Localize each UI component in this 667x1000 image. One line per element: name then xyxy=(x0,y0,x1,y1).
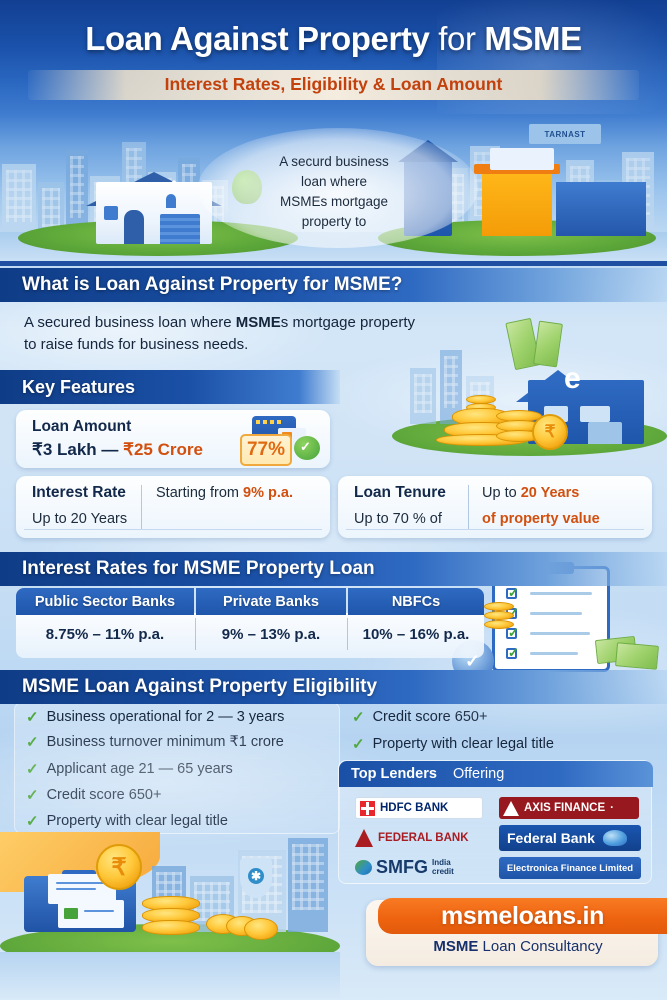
top-lenders-title: Top Lenders Offering xyxy=(351,766,504,782)
smfg-subtext-1: India xyxy=(432,858,454,867)
rates-table: Public Sector Banks Private Banks NBFCs … xyxy=(16,588,484,658)
lender-logo-electronica[interactable]: Electronica Finance Limited xyxy=(499,857,641,879)
smfg-subtext-2: credit xyxy=(432,867,454,876)
header-banner: Loan Against Property for MSME Interest … xyxy=(0,0,667,114)
federal-bank-logo-icon xyxy=(355,829,373,847)
lender-name-axis: AXIS FINANCE xyxy=(524,802,605,814)
federal-swoosh-icon xyxy=(603,830,627,846)
what-is-body-bold: MSME xyxy=(236,314,281,331)
house-garage-icon xyxy=(160,214,200,244)
what-is-body: A secured business loan where MSMEs mort… xyxy=(24,312,494,356)
eligibility-label-1: Business turnover minimum ₹1 crore xyxy=(47,734,284,750)
eligibility-item-1: ✓ Business turnover minimum ₹1 crore xyxy=(26,733,284,751)
loan-amount-value-accent: ₹25 Crore xyxy=(123,440,203,459)
loan-amount-value: ₹3 Lakh — ₹25 Crore xyxy=(32,440,203,460)
section-title-eligibility: MSME Loan Against Property Eligibility xyxy=(22,676,377,698)
page-title-main: Loan Against Property xyxy=(85,20,429,57)
footer-domain: msmeloans.in xyxy=(441,902,604,931)
check-icon: ✓ xyxy=(26,708,39,726)
page-title-for: for xyxy=(438,20,475,57)
lender-logo-axis[interactable]: AXIS FINANCE · xyxy=(499,797,639,819)
rates-col-header-2: NBFCs xyxy=(348,588,484,615)
page-title: Loan Against Property for MSME xyxy=(0,20,667,58)
what-is-body-part1: A secured business loan where xyxy=(24,314,236,331)
rate-badge: 77% xyxy=(240,434,292,466)
section-header-key-features: Key Features xyxy=(0,370,340,404)
billboard-sign: TARNAST xyxy=(529,124,601,144)
check-icon: ✓ xyxy=(26,812,39,830)
eligibility-right-label-1: Property with clear legal title xyxy=(373,736,554,752)
loan-tenure-sublabel: Up to 70 % of xyxy=(354,511,442,527)
footer-tagline: MSME Loan Consultancy xyxy=(378,938,658,955)
card-loan-amount: Loan Amount ₹3 Lakh — ₹25 Crore 77% ✓ xyxy=(16,410,330,468)
section-header-rates: Interest Rates for MSME Property Loan xyxy=(0,552,667,586)
lender-name-smfg: SMFG xyxy=(376,857,428,878)
loan-tenure-prefix: Up to xyxy=(482,485,521,501)
eligibility-label-0: Business operational for 2 — 3 years xyxy=(47,709,285,725)
eligibility-item-4: ✓ Property with clear legal title xyxy=(26,812,228,830)
footer-tagline-bold: MSME xyxy=(433,938,478,955)
rates-cell-0: 8.75% – 11% p.a. xyxy=(16,616,194,652)
what-is-body-line2: to raise funds for business needs. xyxy=(24,334,494,356)
eligibility-label-3: Credit score 650+ xyxy=(47,787,162,803)
rates-cell-1: 9% – 13% p.a. xyxy=(196,616,346,652)
section-title-rates: Interest Rates for MSME Property Loan xyxy=(22,558,375,580)
hero-caption-line3: MSMEs mortgage xyxy=(236,192,432,212)
hdfc-logo-icon xyxy=(360,801,375,816)
loan-tenure-label: Loan Tenure xyxy=(354,484,446,502)
smfg-logo-icon xyxy=(355,860,372,875)
interest-rate-prefix: Starting from xyxy=(156,485,243,501)
hero-bottom-divider xyxy=(0,261,667,266)
rates-cell-2: 10% – 16% p.a. xyxy=(348,616,484,652)
card-interest-rate: Interest Rate Starting from 9% p.a. Up t… xyxy=(16,476,330,538)
check-icon: ✓ xyxy=(352,708,365,726)
section-title-key-features: Key Features xyxy=(22,377,135,398)
axis-logo-icon xyxy=(503,801,519,816)
loan-amount-label: Loan Amount xyxy=(32,418,131,436)
lender-logo-hdfc[interactable]: HDFC BANK xyxy=(355,797,483,819)
top-lenders-title-rest: Offering xyxy=(449,766,504,782)
section-title-what-is: What is Loan Against Property for MSME? xyxy=(22,274,402,296)
lender-name-hdfc: HDFC BANK xyxy=(380,802,448,814)
eligibility-right-item-0: ✓ Credit score 650+ xyxy=(352,708,487,726)
billboard-text: TARNAST xyxy=(544,130,585,139)
hero-caption-line4: property to xyxy=(236,212,432,232)
house-door-icon xyxy=(124,210,144,244)
card-loan-tenure: Loan Tenure Up to 20 Years Up to 70 % of… xyxy=(338,476,652,538)
smfg-subtext: India credit xyxy=(432,858,454,876)
rate-badge-text: 77% xyxy=(247,439,285,461)
check-icon: ✓ xyxy=(26,733,39,751)
loan-tenure-subaccent: of property value xyxy=(482,511,600,527)
bottom-left-illustration: ✱ ₹ xyxy=(0,832,340,1000)
eligibility-item-2: ✓ Applicant age 21 — 65 years xyxy=(26,760,233,778)
eligibility-right-item-1: ✓ Property with clear legal title xyxy=(352,735,554,753)
eligibility-item-3: ✓ Credit score 650+ xyxy=(26,786,161,804)
rupee-coin-icon: ₹ xyxy=(532,414,568,450)
eligibility-label-4: Property with clear legal title xyxy=(47,813,228,829)
footer-tagline-rest: Loan Consultancy xyxy=(478,938,602,955)
check-icon: ✓ xyxy=(26,760,39,778)
interest-rate-value: Starting from 9% p.a. xyxy=(156,485,293,501)
lender-name-federal-blue: Federal Bank xyxy=(507,830,595,846)
hero-illustration: TARNAST A securd business loan where MSM… xyxy=(0,114,667,266)
lender-name-electronica: Electronica Finance Limited xyxy=(507,863,633,874)
eligibility-label-2: Applicant age 21 — 65 years xyxy=(47,761,233,777)
eligibility-right-label-0: Credit score 650+ xyxy=(373,709,488,725)
hero-caption: A securd business loan where MSMEs mortg… xyxy=(236,152,432,232)
loan-tenure-value: Up to 20 Years xyxy=(482,485,579,501)
rates-col-header-0: Public Sector Banks xyxy=(16,588,194,615)
loan-amount-value-plain: ₹3 Lakh — xyxy=(32,440,123,459)
check-icon: ✓ xyxy=(26,786,39,804)
check-icon: ✓ xyxy=(352,735,365,753)
page-subtitle: Interest Rates, Eligibility & Loan Amoun… xyxy=(0,74,667,95)
rupee-coin-large-icon: ₹ xyxy=(96,844,142,890)
eligibility-item-0: ✓ Business operational for 2 — 3 years xyxy=(26,708,284,726)
footer-domain-banner[interactable]: msmeloans.in xyxy=(378,898,667,934)
top-lenders-title-bold: Top Lenders xyxy=(351,766,437,782)
rates-col-header-1: Private Banks xyxy=(196,588,346,615)
hero-caption-line2: loan where xyxy=(236,172,432,192)
top-lenders-panel: Top Lenders Offering HDFC BANK AXIS FINA… xyxy=(338,760,652,884)
what-is-body-part2: s mortgage property xyxy=(281,314,415,331)
infographic-page: Loan Against Property for MSME Interest … xyxy=(0,0,667,1000)
interest-rate-accent: 9% p.a. xyxy=(243,485,293,501)
loan-tenure-accent: 20 Years xyxy=(521,485,580,501)
lender-logo-federal-red[interactable]: FEDERAL BANK xyxy=(353,827,483,849)
hero-caption-line1: A securd business xyxy=(236,152,432,172)
section-header-eligibility: MSME Loan Against Property Eligibility xyxy=(0,670,667,704)
section-header-what-is: What is Loan Against Property for MSME? xyxy=(0,268,667,302)
lender-axis-suffix: · xyxy=(610,802,614,814)
lender-logo-federal-blue[interactable]: Federal Bank xyxy=(499,825,641,851)
lender-name-federal-red: FEDERAL BANK xyxy=(378,832,469,844)
top-lenders-header: Top Lenders Offering xyxy=(339,761,653,787)
interest-rate-label: Interest Rate xyxy=(32,484,126,502)
interest-rate-sublabel: Up to 20 Years xyxy=(32,511,127,527)
page-title-msme: MSME xyxy=(484,20,581,57)
lender-logo-smfg[interactable]: SMFG India credit xyxy=(353,855,485,879)
